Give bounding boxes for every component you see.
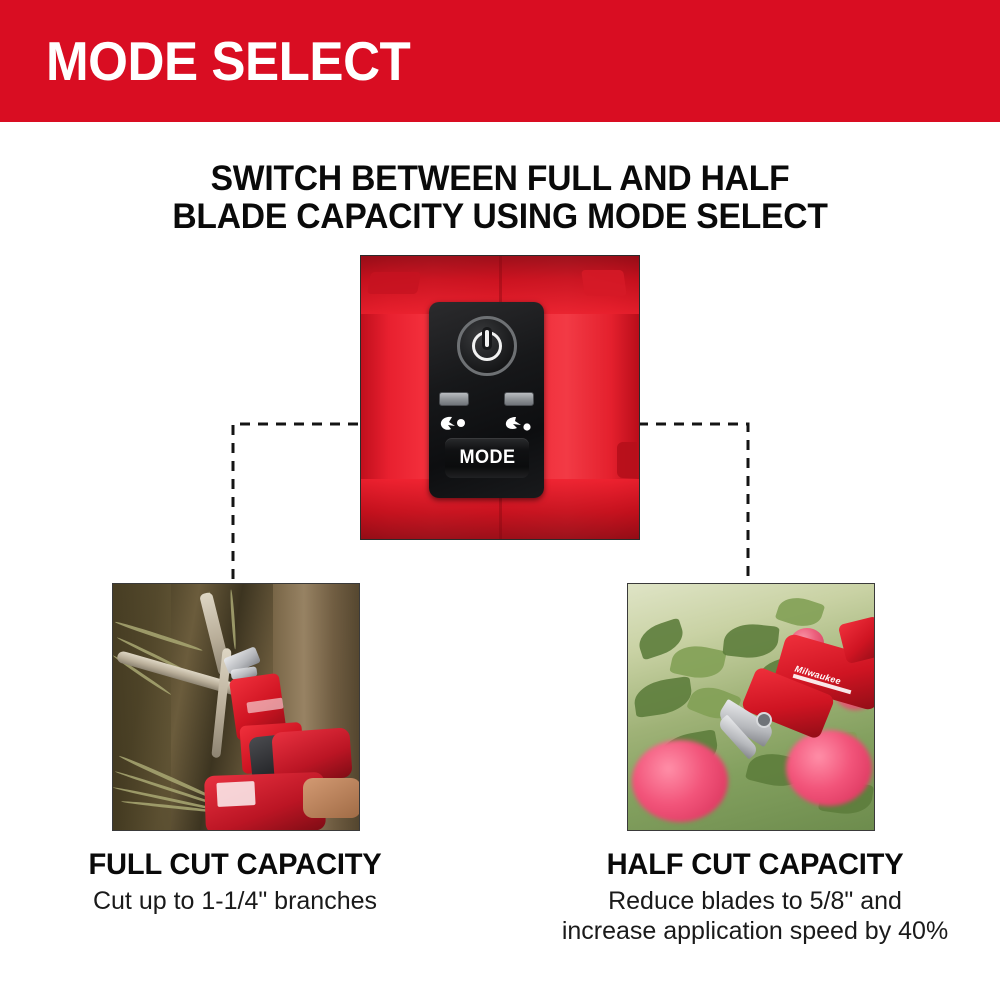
page-title: MODE SELECT (46, 34, 410, 89)
half-cut-description: Reduce blades to 5/8" and increase appli… (520, 886, 990, 946)
half-blade-shear-icon (504, 414, 534, 434)
housing-detail-top-left (367, 272, 421, 294)
half-capacity-led (504, 392, 534, 406)
full-cut-photo (112, 583, 360, 831)
forearm (303, 778, 360, 818)
full-cut-caption: FULL CUT CAPACITY Cut up to 1-1/4" branc… (0, 848, 470, 916)
full-cut-description-line-1: Cut up to 1-1/4" branches (0, 886, 470, 916)
rose-flower (632, 740, 728, 822)
control-keypad: MODE (429, 302, 544, 498)
half-cut-photo: Milwaukee (627, 583, 875, 831)
rose-flower (786, 730, 872, 806)
half-cut-description-line-1: Reduce blades to 5/8" and (520, 886, 990, 916)
mode-button[interactable]: MODE (445, 438, 529, 478)
half-cut-description-line-2: increase application speed by 40% (520, 916, 990, 946)
full-cut-title: FULL CUT CAPACITY (7, 848, 463, 882)
housing-detail-right (617, 442, 637, 478)
full-blade-shear-icon (439, 414, 469, 434)
subtitle-line-1: SWITCH BETWEEN FULL AND HALF (20, 160, 980, 198)
header-banner: MODE SELECT (0, 0, 1000, 122)
mode-icon-row (439, 414, 534, 434)
control-panel-photo: MODE (360, 255, 640, 540)
blade-pivot (756, 712, 772, 728)
housing-detail-top-right (581, 270, 627, 296)
subtitle-line-2: BLADE CAPACITY USING MODE SELECT (20, 198, 980, 236)
subtitle: SWITCH BETWEEN FULL AND HALF BLADE CAPAC… (20, 160, 980, 236)
led-indicator-row (439, 392, 534, 406)
power-button[interactable] (457, 316, 517, 376)
mode-button-label: MODE (459, 447, 515, 469)
full-capacity-led (439, 392, 469, 406)
full-cut-description: Cut up to 1-1/4" branches (0, 886, 470, 916)
half-cut-caption: HALF CUT CAPACITY Reduce blades to 5/8" … (520, 848, 990, 946)
half-cut-title: HALF CUT CAPACITY (527, 848, 983, 882)
glove-logo (216, 781, 255, 807)
power-icon (472, 331, 502, 361)
